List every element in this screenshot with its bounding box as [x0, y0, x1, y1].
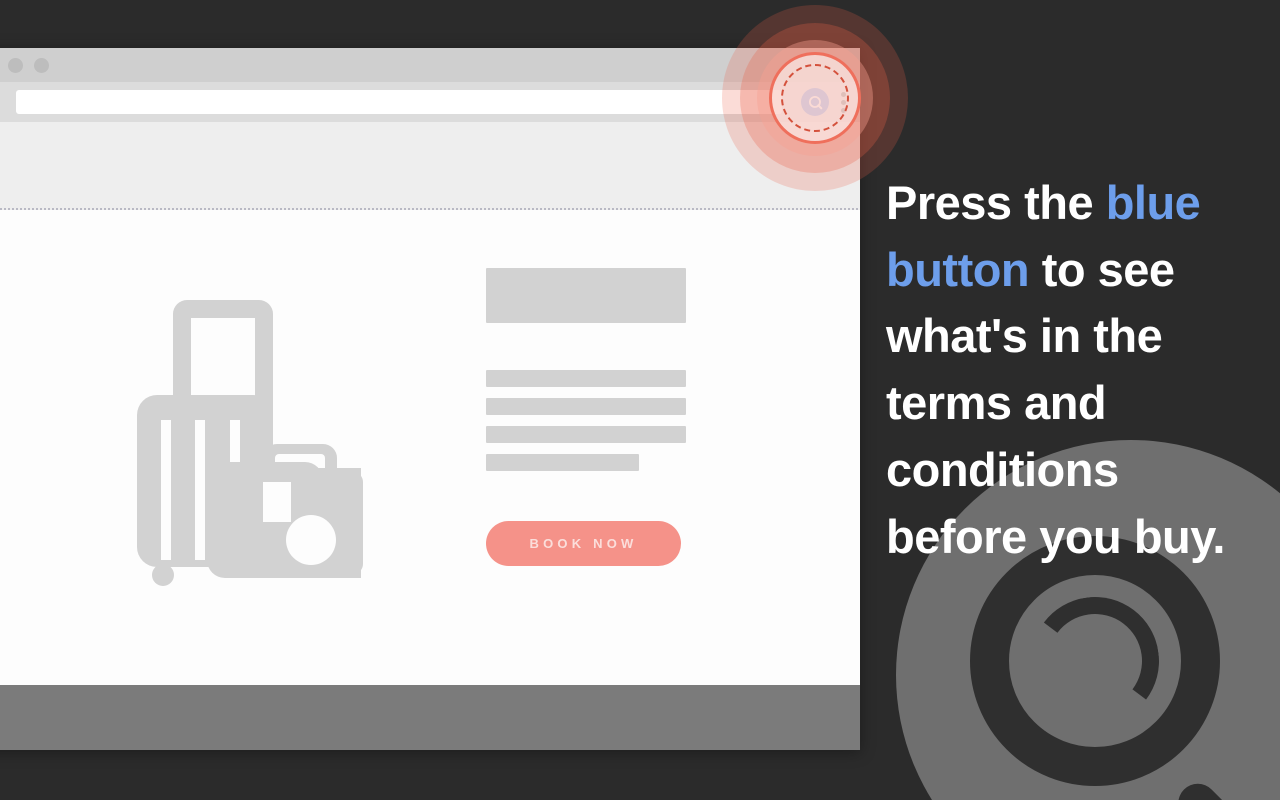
instruction-headline: Press the blue button to see what's in t… — [886, 170, 1256, 570]
text-line-placeholder — [486, 398, 686, 415]
headline-accent-button: button — [886, 243, 1029, 296]
watermark-handle — [1170, 776, 1280, 800]
browser-toolbar — [0, 82, 860, 122]
text-line-placeholder — [486, 426, 686, 443]
search-icon[interactable] — [0, 92, 16, 112]
text-line-placeholder — [486, 454, 639, 471]
kebab-dot-icon — [841, 92, 846, 97]
magnifier-circle-icon — [806, 93, 825, 112]
watermark-glint-arc — [1023, 589, 1168, 734]
luggage-illustration-icon — [135, 292, 395, 597]
watermark-lens-ring — [970, 536, 1220, 786]
kebab-dot-icon — [841, 100, 846, 105]
browser-bookmark-area — [0, 122, 860, 210]
page-footer-bar — [0, 685, 860, 750]
minimize-dot-icon[interactable] — [8, 58, 23, 73]
heading-placeholder — [486, 268, 686, 323]
web-page-content: BOOK NOW — [0, 210, 860, 684]
headline-accent-blue: blue — [1106, 176, 1201, 229]
screenshot-stage: BOOK NOW Press the blue button to see wh… — [0, 0, 1280, 800]
toolbar-right-controls — [801, 82, 850, 122]
maximize-dot-icon[interactable] — [34, 58, 49, 73]
extension-button[interactable] — [801, 88, 829, 116]
browser-titlebar — [0, 48, 860, 82]
headline-part-1: Press the — [886, 176, 1106, 229]
overflow-menu-button[interactable] — [837, 92, 850, 113]
book-now-button[interactable]: BOOK NOW — [486, 521, 681, 566]
page-copy-block: BOOK NOW — [486, 268, 686, 566]
text-line-placeholder — [486, 370, 686, 387]
address-bar-input[interactable] — [16, 90, 782, 114]
browser-window: BOOK NOW — [0, 48, 860, 750]
kebab-dot-icon — [841, 108, 846, 113]
